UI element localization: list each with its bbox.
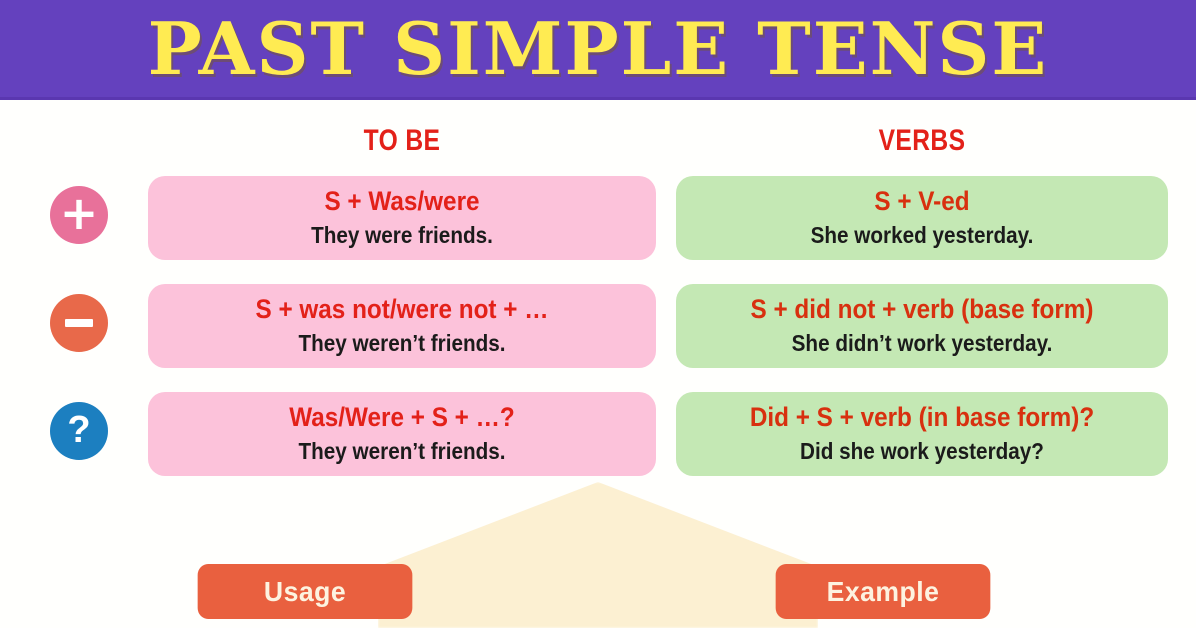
row-question: ? Was/Were + S + …? They weren’t friends… <box>0 392 1196 476</box>
example-text: She didn’t work yesterday. <box>701 327 1144 359</box>
formula-text: S + was not/were not + … <box>173 291 630 327</box>
minus-icon <box>50 294 108 352</box>
formula-text: Did + S + verb (in base form)? <box>701 399 1144 435</box>
plus-icon: + <box>50 186 108 244</box>
question-mark-icon: ? <box>50 402 108 460</box>
panel-verbs-affirmative: S + V-ed She worked yesterday. <box>676 176 1168 260</box>
column-heading-verbs: VERBS <box>720 122 1123 160</box>
panel-to-be-affirmative: S + Was/were They were friends. <box>148 176 656 260</box>
panel-to-be-question: Was/Were + S + …? They weren’t friends. <box>148 392 656 476</box>
formula-text: Was/Were + S + …? <box>173 399 630 435</box>
plus-glyph: + <box>60 190 99 236</box>
minus-glyph <box>65 319 93 327</box>
example-text: They weren’t friends. <box>173 327 630 359</box>
formula-text: S + did not + verb (base form) <box>701 291 1144 327</box>
example-text: They were friends. <box>173 219 630 251</box>
formula-text: S + Was/were <box>173 183 630 219</box>
example-text: They weren’t friends. <box>173 435 630 467</box>
infographic-page: PAST SIMPLE TENSE TO BE VERBS + S + Was/… <box>0 0 1196 628</box>
row-negative: S + was not/were not + … They weren’t fr… <box>0 284 1196 368</box>
decorative-wedge <box>378 482 818 628</box>
example-button[interactable]: Example <box>776 564 991 619</box>
panel-verbs-negative: S + did not + verb (base form) She didn’… <box>676 284 1168 368</box>
column-heading-to-be: TO BE <box>194 122 611 160</box>
panel-to-be-negative: S + was not/were not + … They weren’t fr… <box>148 284 656 368</box>
usage-button[interactable]: Usage <box>198 564 413 619</box>
question-glyph: ? <box>67 411 90 449</box>
panel-verbs-question: Did + S + verb (in base form)? Did she w… <box>676 392 1168 476</box>
row-affirmative: + S + Was/were They were friends. S + V-… <box>0 176 1196 260</box>
page-title: PAST SIMPLE TENSE <box>0 0 1196 97</box>
example-text: Did she work yesterday? <box>701 435 1144 467</box>
header-banner: PAST SIMPLE TENSE <box>0 0 1196 100</box>
example-text: She worked yesterday. <box>701 219 1144 251</box>
formula-text: S + V-ed <box>701 183 1144 219</box>
